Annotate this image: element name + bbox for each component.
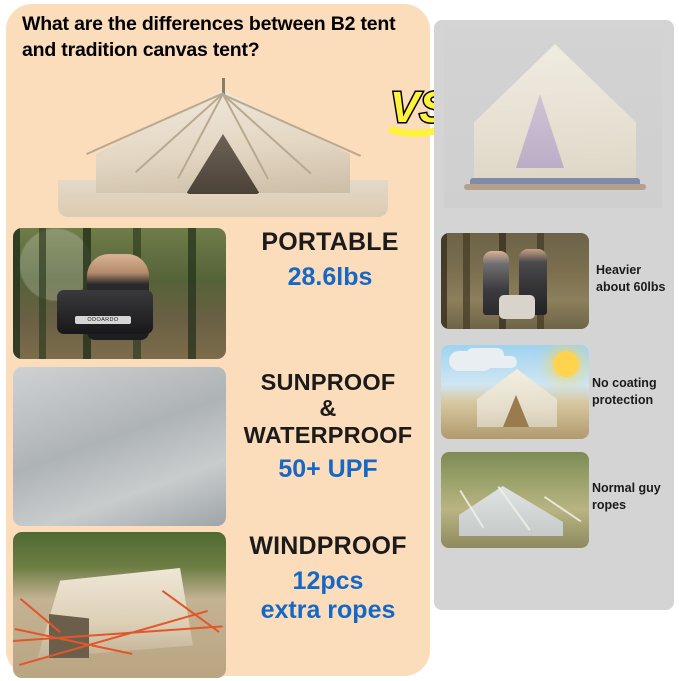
- heavier-photo: [441, 233, 589, 329]
- feature-upf-value: 50+ UPF: [228, 455, 428, 484]
- page-title: What are the differences between B2 tent…: [22, 12, 420, 64]
- traditional-tent-ground: [464, 184, 646, 190]
- label-normal-guy-ropes-line2: ropes: [592, 497, 676, 514]
- cloud-icon: [449, 351, 493, 371]
- heavy-load: [499, 295, 535, 319]
- label-heavier-line2: about 60lbs: [596, 279, 676, 296]
- feature-windproof-title: WINDPROOF: [226, 532, 430, 560]
- label-no-coating-line2: protection: [592, 392, 676, 409]
- windproof-photo: [13, 532, 226, 678]
- feature-ampersand: &: [228, 395, 428, 421]
- normal-guy-ropes-photo: [441, 452, 589, 548]
- no-coating-photo: [441, 345, 589, 439]
- feature-ropes-label: extra ropes: [226, 596, 430, 625]
- sun-icon: [553, 351, 579, 377]
- infographic-root: What are the differences between B2 tent…: [0, 0, 679, 681]
- portable-photo: ODOARDO OUTDOOR: [13, 228, 226, 359]
- label-no-coating: No coating protection: [592, 375, 676, 409]
- feature-portable-title: PORTABLE: [232, 228, 428, 256]
- feature-sunproof-waterproof: SUNPROOF & WATERPROOF 50+ UPF: [228, 369, 428, 484]
- feature-ropes-count: 12pcs: [226, 567, 430, 596]
- feature-portable-value: 28.6lbs: [232, 263, 428, 292]
- label-normal-guy-ropes: Normal guy ropes: [592, 480, 676, 514]
- left-panel-b2-tent: What are the differences between B2 tent…: [6, 4, 430, 676]
- feature-windproof: WINDPROOF 12pcs extra ropes: [226, 532, 430, 625]
- b2-tent-hero-image: [58, 72, 388, 217]
- label-heavier-line1: Heavier: [596, 262, 676, 279]
- label-no-coating-line1: No coating: [592, 375, 676, 392]
- label-normal-guy-ropes-line1: Normal guy: [592, 480, 676, 497]
- bag-brand-label: ODOARDO OUTDOOR: [75, 316, 131, 324]
- label-heavier: Heavier about 60lbs: [596, 262, 676, 296]
- feature-sunproof-title: SUNPROOF: [228, 369, 428, 395]
- waterproof-fabric-photo: [13, 367, 226, 526]
- feature-waterproof-title: WATERPROOF: [228, 422, 428, 448]
- traditional-tent-hero-image: [444, 28, 662, 208]
- feature-portable: PORTABLE 28.6lbs: [232, 228, 428, 292]
- duffel-bag: ODOARDO OUTDOOR: [57, 290, 153, 334]
